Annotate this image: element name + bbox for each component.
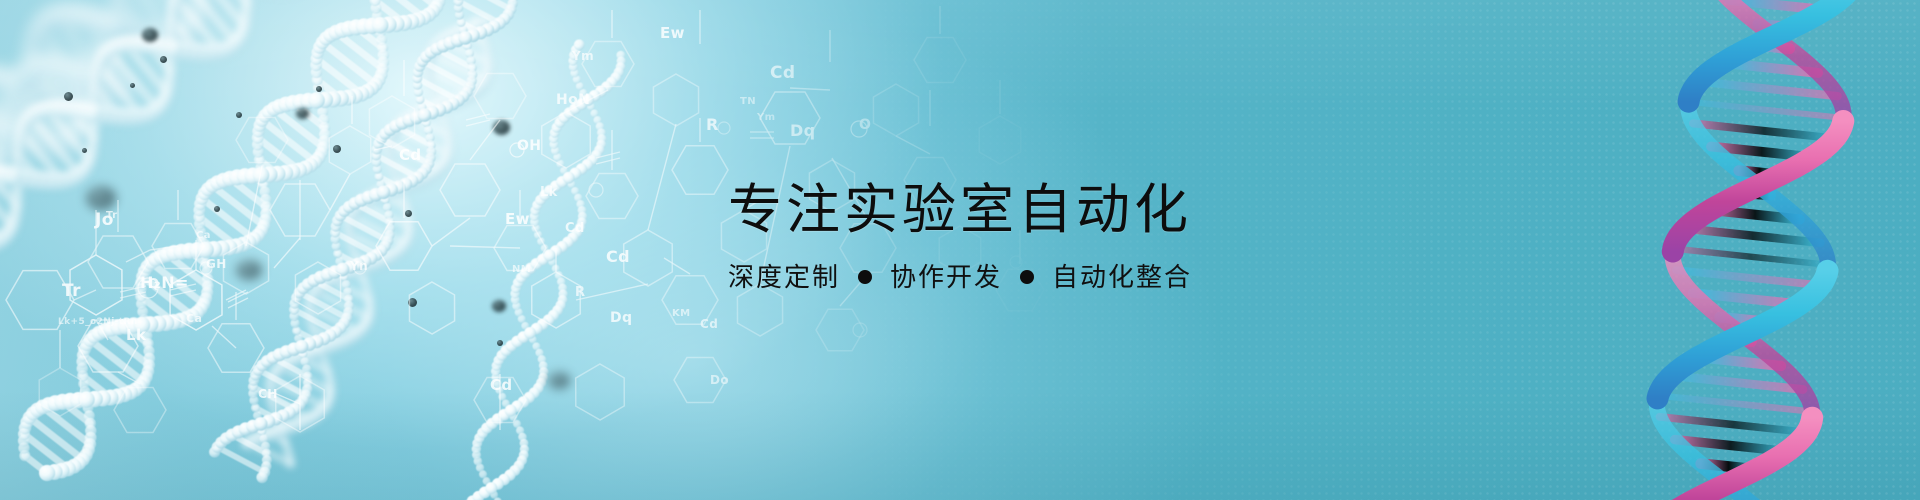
chem-label: Ew bbox=[660, 24, 685, 42]
chem-label: Cd bbox=[770, 63, 795, 83]
chem-label: Dq bbox=[610, 310, 632, 326]
chem-label: Cd bbox=[490, 376, 513, 394]
chem-label: Lk bbox=[540, 185, 558, 200]
chem-label: Do bbox=[710, 373, 729, 387]
chemical-structure-overlay: EwYmCdHoNTNRDqYmCdLkJoTrEwCdCaGHYnNMCdH₂… bbox=[0, 0, 1100, 500]
chem-label: R bbox=[706, 115, 719, 134]
chem-label: HoN bbox=[556, 92, 590, 108]
chem-label: Cd bbox=[399, 146, 422, 164]
chem-label: Cd bbox=[565, 221, 585, 236]
chem-label: O bbox=[859, 117, 871, 133]
chem-label: Ym bbox=[571, 49, 594, 63]
chem-label: NM bbox=[512, 264, 531, 275]
chem-label: Lk+5_o2Nj-tRn bbox=[58, 317, 138, 327]
chem-label: Cd bbox=[700, 317, 718, 331]
lab-automation-hero-banner: EwYmCdHoNTNRDqYmCdLkJoTrEwCdCaGHYnNMCdH₂… bbox=[0, 0, 1920, 500]
chem-label: Cd bbox=[606, 247, 630, 266]
chem-label: CH bbox=[258, 387, 278, 401]
chem-label: Tr bbox=[106, 210, 117, 221]
chem-label: Tr bbox=[62, 281, 81, 301]
chem-label: TN bbox=[740, 96, 756, 107]
chem-label: R bbox=[575, 285, 585, 300]
chem-label: Ca bbox=[196, 230, 211, 241]
chem-label: Lk bbox=[126, 326, 147, 344]
chem-label: KM bbox=[672, 308, 691, 319]
chem-label: Ew bbox=[505, 210, 530, 228]
chem-label: Ca bbox=[186, 312, 202, 325]
chem-label: GH bbox=[206, 257, 227, 271]
chem-label: OH bbox=[517, 138, 541, 154]
colored-dna-helix-graphic bbox=[1530, 0, 1920, 500]
chem-label: Yn bbox=[349, 259, 368, 273]
chem-label: Ym bbox=[756, 112, 775, 123]
chem-label: Q bbox=[148, 277, 159, 292]
chem-label: Dq bbox=[790, 121, 816, 140]
